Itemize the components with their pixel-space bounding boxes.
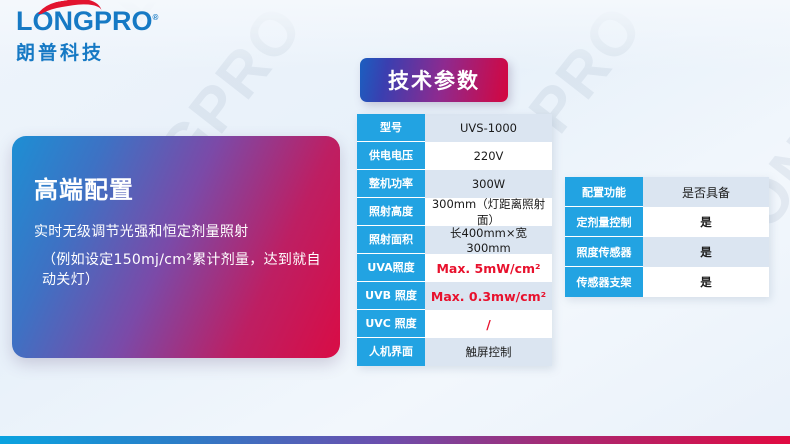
spec-row-label: 人机界面 [357,338,425,366]
table-row: 定剂量控制是 [565,207,769,237]
spec-row-value: 长400mm×宽300mm [425,226,552,254]
config-row-value: 是 [643,237,769,267]
logo-wordmark-text: LONGPRO [16,6,153,36]
section-banner: 技术参数 [360,58,508,102]
hero-card: 高端配置 实时无级调节光强和恒定剂量照射 （例如设定150mj/cm²累计剂量，… [12,136,340,358]
config-row-label: 传感器支架 [565,267,643,297]
table-row: 传感器支架是 [565,267,769,297]
hero-description-line-2: （例如设定150mj/cm²累计剂量，达到就自动关灯） [34,249,324,289]
specification-table: 型号UVS-1000供电电压220V整机功率300W照射高度300mm（灯距离照… [357,114,552,366]
spec-row-value: / [425,310,552,338]
spec-row-label: 整机功率 [357,170,425,198]
table-row: 照射面积长400mm×宽300mm [357,226,552,254]
spec-row-label: 型号 [357,114,425,142]
spec-row-label: 照射面积 [357,226,425,254]
brand-logo: LONGPRO® 朗普科技 [16,8,158,65]
config-row-label: 配置功能 [565,177,643,207]
spec-row-label: UVA照度 [357,254,425,282]
spec-row-value: Max. 5mW/cm² [425,254,552,282]
config-row-value: 是 [643,267,769,297]
spec-row-value: Max. 0.3mw/cm² [425,282,552,310]
watermark-text: LONGPRO [770,0,790,24]
table-row: UVC 照度/ [357,310,552,338]
hero-description-line-1: 实时无级调节光强和恒定剂量照射 [34,221,324,241]
logo-chinese-name: 朗普科技 [16,38,158,65]
spec-row-label: UVC 照度 [357,310,425,338]
spec-row-label: 照射高度 [357,198,425,226]
configuration-table: 配置功能是否具备定剂量控制是照度传感器是传感器支架是 [565,177,769,297]
spec-row-value: 触屏控制 [425,338,552,366]
config-column-header: 是否具备 [643,177,769,207]
bottom-accent-bar [0,436,790,444]
spec-row-value: 300W [425,170,552,198]
logo-wordmark: LONGPRO® [16,6,158,36]
config-row-label: 照度传感器 [565,237,643,267]
hero-title: 高端配置 [34,170,324,205]
table-row: 型号UVS-1000 [357,114,552,142]
table-row: 照射高度300mm（灯距离照射面） [357,198,552,226]
spec-row-label: 供电电压 [357,142,425,170]
table-row: 照度传感器是 [565,237,769,267]
config-row-value: 是 [643,207,769,237]
section-banner-title: 技术参数 [388,65,480,95]
table-row: UVB 照度Max. 0.3mw/cm² [357,282,552,310]
table-row: UVA照度Max. 5mW/cm² [357,254,552,282]
logo-wordmark-row: LONGPRO® [16,8,158,35]
table-row: 配置功能是否具备 [565,177,769,207]
spec-row-value: 220V [425,142,552,170]
table-row: 供电电压220V [357,142,552,170]
spec-row-label: UVB 照度 [357,282,425,310]
registered-mark-icon: ® [153,13,159,22]
config-row-label: 定剂量控制 [565,207,643,237]
table-row: 整机功率300W [357,170,552,198]
spec-row-value: UVS-1000 [425,114,552,142]
watermark-text: LONGPRO [470,0,728,14]
spec-row-value: 300mm（灯距离照射面） [425,198,552,226]
table-row: 人机界面触屏控制 [357,338,552,366]
